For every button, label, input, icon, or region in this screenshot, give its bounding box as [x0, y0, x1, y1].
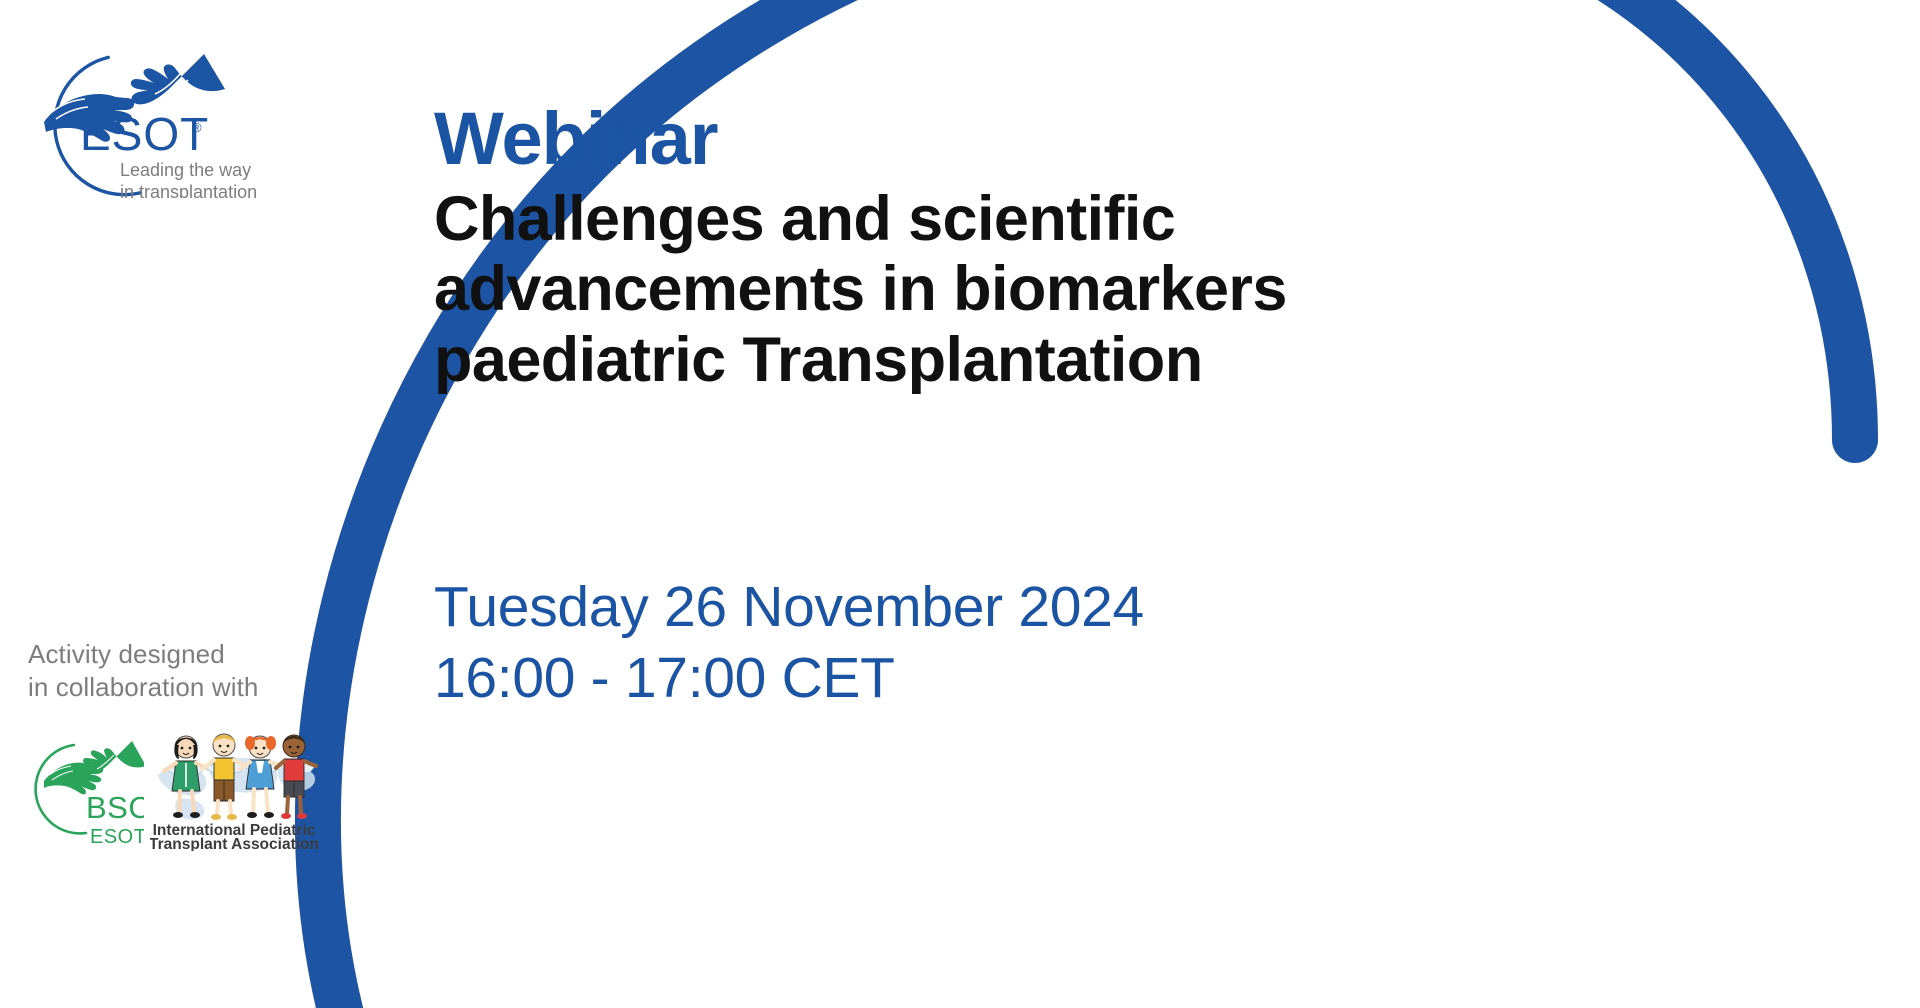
datetime-block: Tuesday 26 November 2024 16:00 - 17:00 C… [434, 572, 1144, 715]
ipta-name-line2: Transplant Association [150, 836, 318, 851]
esot-tagline-line2: in transplantation [120, 182, 257, 198]
collaboration-block: Activity designed in collaboration with … [28, 638, 328, 851]
bsc-esot-logo: BSC ESOT [28, 719, 144, 851]
right-hand-icon [131, 54, 225, 104]
bsc-right-hand-icon [83, 741, 144, 774]
registered-mark: ® [192, 120, 202, 135]
partner-logos: BSC ESOT [28, 719, 328, 851]
collaboration-caption-line2: in collaboration with [28, 671, 328, 704]
page-title: Challenges and scientific advancements i… [434, 184, 1334, 396]
webinar-announcement-poster: ESOT ® Leading the way in transplantatio… [0, 0, 1920, 1008]
collaboration-caption: Activity designed in collaboration with [28, 638, 328, 705]
esot-tagline-line1: Leading the way [120, 160, 251, 180]
event-date: Tuesday 26 November 2024 [434, 572, 1144, 643]
ipta-logo: International Pediatric Transplant Assoc… [150, 725, 318, 851]
bsc-acronym: BSC [86, 790, 144, 825]
event-time: 16:00 - 17:00 CET [434, 643, 1144, 714]
main-text-block: Webinar Challenges and scientific advanc… [434, 104, 1434, 395]
event-type-label: Webinar [434, 104, 1434, 174]
esot-wordmark: ESOT [80, 108, 209, 160]
esot-logo-mark: ESOT ® Leading the way in transplantatio… [22, 26, 274, 198]
esot-logo: ESOT ® Leading the way in transplantatio… [22, 26, 274, 198]
bsc-parent-label: ESOT [90, 826, 144, 848]
collaboration-caption-line1: Activity designed [28, 638, 328, 671]
